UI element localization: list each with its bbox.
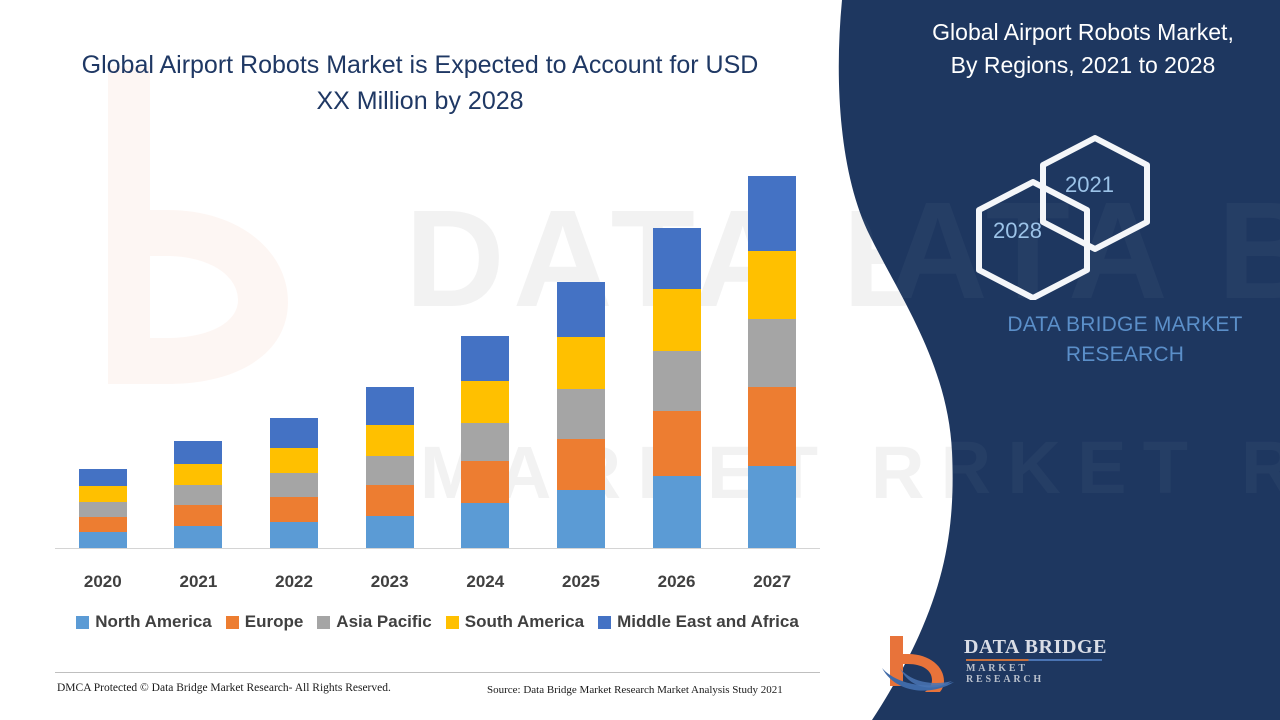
bar-segment-2021-europe xyxy=(174,505,222,526)
bar-segment-2023-asia-pacific xyxy=(366,456,414,485)
brand-name-text: DATA BRIDGE MARKET RESEARCH xyxy=(960,310,1280,371)
logo-underline xyxy=(966,659,1102,661)
legend-swatch-icon xyxy=(317,616,330,629)
legend-item-asia-pacific[interactable]: Asia Pacific xyxy=(317,612,431,632)
legend-item-europe[interactable]: Europe xyxy=(226,612,304,632)
legend-swatch-icon xyxy=(76,616,89,629)
bar-segment-2025-north-america xyxy=(557,490,605,548)
bar-2026 xyxy=(653,228,701,548)
x-tick-2025: 2025 xyxy=(557,572,605,592)
bar-segment-2021-asia-pacific xyxy=(174,485,222,505)
legend-swatch-icon xyxy=(446,616,459,629)
bar-segment-2024-europe xyxy=(461,461,509,503)
x-tick-2022: 2022 xyxy=(270,572,318,592)
legend-item-middle-east-and-africa[interactable]: Middle East and Africa xyxy=(598,612,799,632)
bar-segment-2020-asia-pacific xyxy=(79,502,127,517)
bar-segment-2027-middle-east-and-africa xyxy=(748,176,796,251)
bar-segment-2023-europe xyxy=(366,485,414,516)
bar-2025 xyxy=(557,282,605,548)
legend-item-north-america[interactable]: North America xyxy=(76,612,212,632)
stacked-bar-chart xyxy=(55,150,820,562)
bar-2020 xyxy=(79,469,127,548)
logo-text-primary: DATA BRIDGE xyxy=(964,636,1107,659)
legend-label: Europe xyxy=(245,612,304,632)
chart-legend: North AmericaEuropeAsia PacificSouth Ame… xyxy=(55,612,820,632)
bar-segment-2021-south-america xyxy=(174,464,222,485)
x-tick-2024: 2024 xyxy=(461,572,509,592)
bar-segment-2025-south-america xyxy=(557,337,605,389)
bar-segment-2025-europe xyxy=(557,439,605,491)
right-panel-title: Global Airport Robots Market, By Regions… xyxy=(898,16,1268,83)
bar-segment-2022-europe xyxy=(270,497,318,522)
bar-segment-2020-north-america xyxy=(79,532,127,548)
legend-swatch-icon xyxy=(226,616,239,629)
bar-2021 xyxy=(174,441,222,548)
x-tick-2020: 2020 xyxy=(79,572,127,592)
bar-segment-2024-north-america xyxy=(461,503,509,548)
bar-segment-2027-europe xyxy=(748,387,796,467)
legend-label: South America xyxy=(465,612,584,632)
chart-x-axis-line xyxy=(55,548,820,549)
footer-divider xyxy=(55,672,820,673)
bar-segment-2026-south-america xyxy=(653,289,701,351)
brand-line-1: DATA BRIDGE MARKET xyxy=(1007,313,1242,336)
main-title-line-1: Global Airport Robots Market is Expected… xyxy=(82,51,759,79)
legend-label: Asia Pacific xyxy=(336,612,431,632)
bar-segment-2020-europe xyxy=(79,517,127,532)
bar-segment-2023-middle-east-and-africa xyxy=(366,387,414,425)
hexagon-2021-label: 2021 xyxy=(1065,172,1114,198)
bar-segment-2020-middle-east-and-africa xyxy=(79,469,127,486)
infographic-canvas: DATA BRIDGE MARKET RESEARCH DATA BRIDGE … xyxy=(0,0,1280,720)
bar-segment-2025-middle-east-and-africa xyxy=(557,282,605,337)
data-bridge-logo-mark xyxy=(880,632,960,692)
bar-2024 xyxy=(461,336,509,548)
brand-line-2: RESEARCH xyxy=(1066,343,1184,366)
bar-segment-2025-asia-pacific xyxy=(557,389,605,439)
bar-2027 xyxy=(748,176,796,548)
bar-segment-2022-south-america xyxy=(270,448,318,474)
x-tick-2027: 2027 xyxy=(748,572,796,592)
bar-segment-2022-asia-pacific xyxy=(270,473,318,497)
bar-segment-2026-middle-east-and-africa xyxy=(653,228,701,290)
footer-copyright: DMCA Protected © Data Bridge Market Rese… xyxy=(57,682,391,694)
main-title-line-2: XX Million by 2028 xyxy=(316,87,523,115)
bar-segment-2024-south-america xyxy=(461,381,509,423)
bar-segment-2027-south-america xyxy=(748,251,796,320)
bar-segment-2026-north-america xyxy=(653,476,701,548)
bar-segment-2027-north-america xyxy=(748,466,796,548)
right-title-line-2: By Regions, 2021 to 2028 xyxy=(951,52,1216,78)
bar-2022 xyxy=(270,418,318,548)
bar-segment-2020-south-america xyxy=(79,486,127,502)
bar-segment-2021-middle-east-and-africa xyxy=(174,441,222,465)
bar-segment-2022-north-america xyxy=(270,522,318,548)
bar-segment-2027-asia-pacific xyxy=(748,319,796,387)
legend-item-south-america[interactable]: South America xyxy=(446,612,584,632)
hexagon-outlines xyxy=(975,130,1185,300)
bar-segment-2023-north-america xyxy=(366,516,414,548)
hexagon-2028-label: 2028 xyxy=(993,218,1042,244)
main-title: Global Airport Robots Market is Expected… xyxy=(70,48,770,119)
bar-2023 xyxy=(366,387,414,548)
bar-segment-2022-middle-east-and-africa xyxy=(270,418,318,448)
footer-source: Source: Data Bridge Market Research Mark… xyxy=(487,684,783,696)
data-bridge-logo: DATA BRIDGE MARKET RESEARCH xyxy=(880,632,1110,694)
logo-text-secondary: MARKET RESEARCH xyxy=(966,663,1110,685)
hexagon-year-group: 2021 2028 xyxy=(975,130,1185,300)
bar-segment-2024-asia-pacific xyxy=(461,423,509,462)
chart-plot-area xyxy=(55,150,820,548)
bar-segment-2021-north-america xyxy=(174,526,222,548)
x-tick-2023: 2023 xyxy=(366,572,414,592)
chart-x-tick-labels: 20202021202220232024202520262027 xyxy=(55,572,820,592)
right-title-line-1: Global Airport Robots Market, xyxy=(932,19,1234,45)
legend-label: North America xyxy=(95,612,212,632)
legend-swatch-icon xyxy=(598,616,611,629)
bar-segment-2024-middle-east-and-africa xyxy=(461,336,509,381)
bar-segment-2026-europe xyxy=(653,411,701,477)
bar-segment-2023-south-america xyxy=(366,425,414,457)
x-tick-2021: 2021 xyxy=(174,572,222,592)
legend-label: Middle East and Africa xyxy=(617,612,799,632)
bar-segment-2026-asia-pacific xyxy=(653,351,701,411)
x-tick-2026: 2026 xyxy=(653,572,701,592)
